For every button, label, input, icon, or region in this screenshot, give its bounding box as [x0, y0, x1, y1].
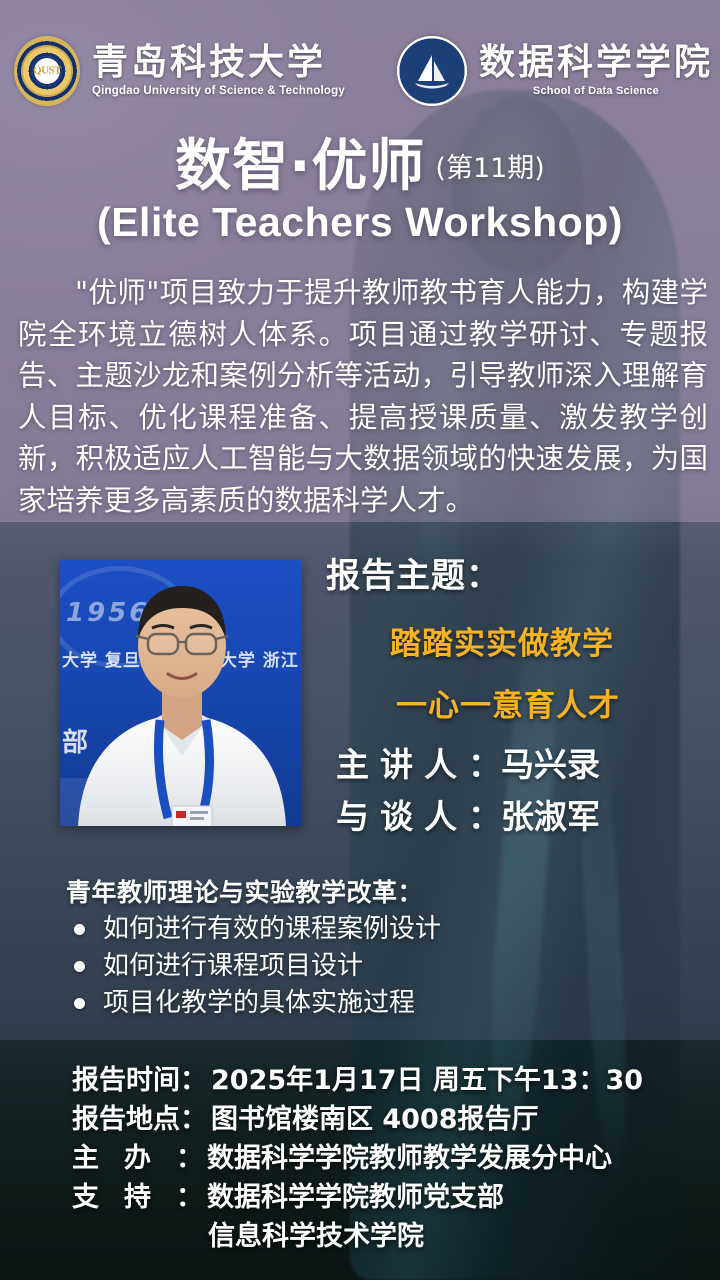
footer-row-support: 支持 ： 数据科学学院教师党支部: [72, 1179, 643, 1218]
list-item: 项目化教学的具体实施过程: [66, 985, 441, 1022]
university-name-cn: 青岛科技大学: [92, 45, 345, 81]
discussant-row: 与谈人：张淑军: [336, 790, 600, 838]
footer-colon-support: ：: [176, 1179, 203, 1218]
bullet-dot-icon: [74, 961, 85, 972]
footer-row-time: 报告时间 ： 2025年1月17日 周五下午13：30: [72, 1062, 643, 1101]
title-issue-number: (第11期): [435, 153, 544, 184]
footer-value-location: 图书馆楼南区 4008报告厅: [211, 1101, 539, 1140]
footer-key-organizer: 主办: [72, 1140, 176, 1179]
list-item-label: 项目化教学的具体实施过程: [103, 985, 415, 1022]
speaker-photo: 1956 大学 复旦大学 交通大学 浙江 部: [60, 560, 302, 826]
university-name: 青岛科技大学 Qingdao University of Science & T…: [92, 45, 345, 98]
title-main-cn: 数智·优师: [175, 138, 425, 197]
footer-colon-time: ：: [180, 1062, 207, 1101]
speaker-name: 马兴录: [501, 745, 600, 784]
reform-section-title: 青年教师理论与实验教学改革：: [66, 873, 441, 909]
qust-seal-icon: QUST: [14, 36, 80, 106]
speaker-colon: ：: [468, 745, 501, 784]
university-logo-group: QUST 青岛科技大学 Qingdao University of Scienc…: [14, 36, 345, 106]
poster-title-block: 数智·优师(第11期) (Elite Teachers Workshop): [0, 138, 720, 246]
bullet-dot-icon: [74, 924, 85, 935]
poster-header: QUST 青岛科技大学 Qingdao University of Scienc…: [0, 28, 720, 114]
qust-monogram: QUST: [33, 65, 61, 77]
footer-value-support-second: 信息科学技术学院: [208, 1218, 424, 1257]
topic-label: 报告主题：: [326, 548, 501, 597]
title-main-en: (Elite Teachers Workshop): [0, 199, 720, 246]
bullet-dot-icon: [74, 998, 85, 1009]
school-logo-group: 数据科学学院 School of Data Science: [397, 36, 713, 106]
list-item: 如何进行有效的课程案例设计: [66, 911, 441, 948]
speaker-portrait: [60, 560, 302, 826]
sailboat-glyph: [412, 51, 452, 91]
university-name-en: Qingdao University of Science & Technolo…: [92, 86, 345, 98]
topic-line-1: 踏踏实实做教学: [390, 618, 614, 663]
event-poster: QUST 青岛科技大学 Qingdao University of Scienc…: [0, 0, 720, 1280]
list-item: 如何进行课程项目设计: [66, 948, 441, 985]
discussant-colon: ：: [468, 797, 501, 836]
topic-line-2: 一心一意育人才: [396, 680, 620, 725]
footer-value-organizer: 数据科学学院教师教学发展分中心: [207, 1140, 612, 1179]
school-name: 数据科学学院 School of Data Science: [479, 45, 713, 97]
intro-paragraph: "优师"项目致力于提升教师教书育人能力，构建学院全环境立德树人体系。项目通过教学…: [18, 272, 708, 522]
speaker-role-label: 主讲人: [336, 745, 468, 784]
discussant-name: 张淑军: [501, 797, 600, 836]
footer-row-support-second: 信息科学技术学院: [72, 1218, 643, 1257]
footer-key-time: 报告时间: [72, 1062, 180, 1101]
footer-value-time: 2025年1月17日 周五下午13：30: [211, 1062, 643, 1101]
sail-seal-icon: [397, 36, 467, 106]
school-name-en: School of Data Science: [479, 86, 713, 97]
footer-details: 报告时间 ： 2025年1月17日 周五下午13：30 报告地点 ： 图书馆楼南…: [72, 1062, 643, 1256]
reform-list: 如何进行有效的课程案例设计 如何进行课程项目设计 项目化教学的具体实施过程: [66, 911, 441, 1022]
list-item-label: 如何进行有效的课程案例设计: [103, 911, 441, 948]
reform-section: 青年教师理论与实验教学改革： 如何进行有效的课程案例设计 如何进行课程项目设计 …: [66, 873, 441, 1022]
footer-colon-organizer: ：: [176, 1140, 203, 1179]
speaker-row: 主讲人：马兴录: [336, 738, 600, 786]
footer-row-organizer: 主办 ： 数据科学学院教师教学发展分中心: [72, 1140, 643, 1179]
footer-colon-location: ：: [180, 1101, 207, 1140]
school-name-cn: 数据科学学院: [479, 45, 713, 81]
footer-key-location: 报告地点: [72, 1101, 180, 1140]
discussant-role-label: 与谈人: [336, 797, 468, 836]
footer-key-support: 支持: [72, 1179, 176, 1218]
list-item-label: 如何进行课程项目设计: [103, 948, 363, 985]
footer-row-location: 报告地点 ： 图书馆楼南区 4008报告厅: [72, 1101, 643, 1140]
footer-value-support: 数据科学学院教师党支部: [207, 1179, 504, 1218]
